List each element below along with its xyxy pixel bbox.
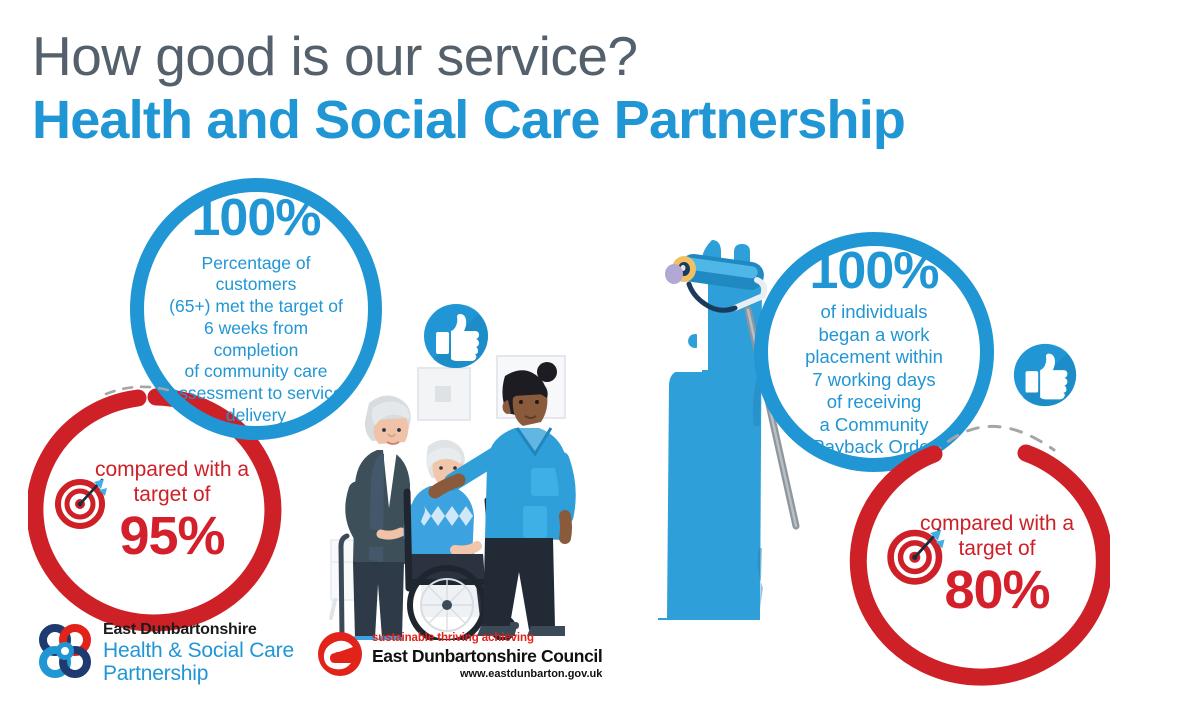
- thumbs-up-badge-right: [1009, 339, 1081, 416]
- hscp-logo-line2: Health & Social Care: [103, 639, 294, 662]
- hscp-logo: East Dunbartonshire Health & Social Care…: [36, 622, 294, 685]
- stat-value-left: 100%: [192, 192, 321, 244]
- hscp-logo-line1: East Dunbartonshire: [103, 622, 294, 639]
- hscp-logo-line3: Partnership: [103, 662, 294, 685]
- stat-description-left: Percentage of customers (65+) met the ta…: [144, 253, 368, 427]
- thumbs-up-icon: [1009, 339, 1081, 411]
- connector-dashes-left: [104, 378, 174, 402]
- target-dartboard-icon: [884, 522, 950, 588]
- page-title-subject: Health and Social Care Partnership: [32, 92, 1052, 149]
- target-dartboard-icon: [52, 472, 112, 532]
- infographic-poster: How good is our service? Health and Soci…: [0, 0, 1200, 713]
- page-title-question: How good is our service?: [32, 28, 1052, 86]
- target-value-left: 95%: [119, 509, 224, 563]
- heading-block: How good is our service? Health and Soci…: [32, 28, 1052, 148]
- council-logo: sustainable thriving achieving East Dunb…: [316, 630, 602, 680]
- stat-value-right: 100%: [810, 245, 939, 297]
- council-name: East Dunbartonshire Council: [372, 646, 602, 666]
- stat-content-left: 100% Percentage of customers (65+) met t…: [144, 192, 368, 426]
- elderly-woman-figure: [341, 395, 411, 640]
- target-value-right: 80%: [944, 563, 1049, 617]
- council-website: www.eastdunbarton.gov.uk: [372, 668, 602, 680]
- council-strapline: sustainable thriving achieving: [372, 632, 602, 645]
- target-compare-text-left: compared with a target of: [95, 457, 249, 507]
- thumbs-up-icon: [419, 299, 493, 373]
- east-dunbartonshire-council-e-logo: [316, 630, 364, 678]
- thumbs-up-badge-left: [419, 299, 493, 378]
- east-dunbartonshire-hscp-rings-logo: [36, 622, 94, 684]
